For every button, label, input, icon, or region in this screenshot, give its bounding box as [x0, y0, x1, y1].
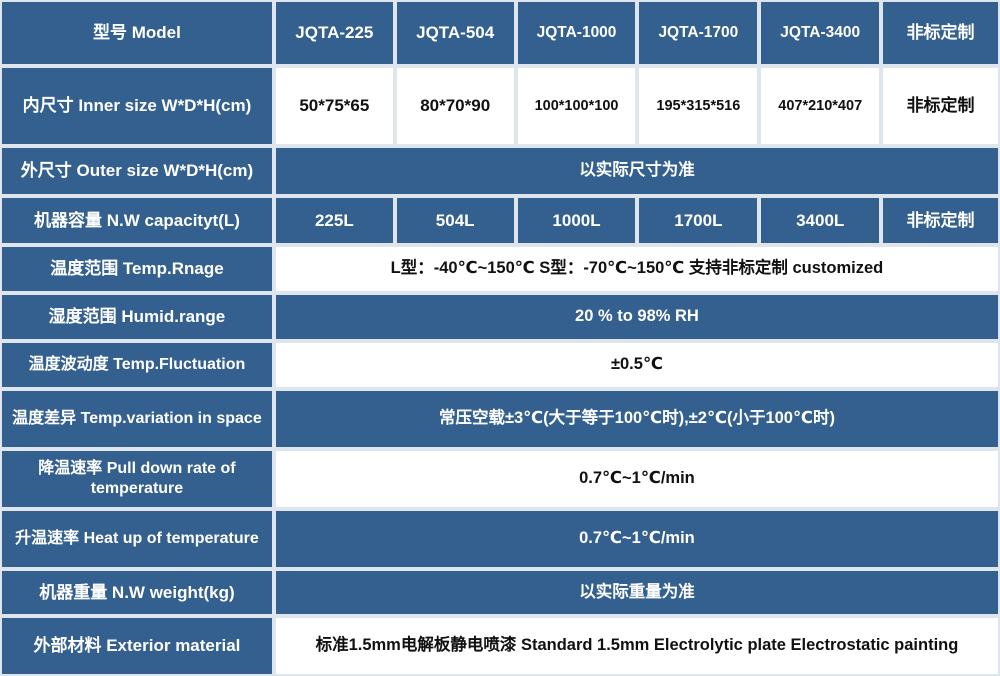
table-row-capacity: 机器容量 N.W capacityt(L) 225L 504L 1000L 17… — [0, 196, 1000, 245]
cell-capacity-225: 225L — [274, 196, 395, 245]
row-label-temp-range: 温度范围 Temp.Rnage — [0, 245, 274, 293]
cell-capacity-504: 504L — [395, 196, 516, 245]
row-label-heat-up-rate: 升温速率 Heat up of temperature — [0, 509, 274, 569]
header-cell-jqta-1000: JQTA-1000 — [516, 0, 638, 66]
cell-temp-variation-value: 常压空载±3℃(大于等于100℃时),±2℃(小于100℃时) — [274, 389, 1000, 449]
table-row-humidity-range: 湿度范围 Humid.range 20 % to 98% RH — [0, 293, 1000, 341]
cell-heat-up-rate-value: 0.7℃~1℃/min — [274, 509, 1000, 569]
row-label-capacity: 机器容量 N.W capacityt(L) — [0, 196, 274, 245]
cell-inner-size-225: 50*75*65 — [274, 66, 395, 146]
header-cell-model: 型号 Model — [0, 0, 274, 66]
table-row-inner-size: 内尺寸 Inner size W*D*H(cm) 50*75*65 80*70*… — [0, 66, 1000, 146]
row-label-temp-variation: 温度差异 Temp.variation in space — [0, 389, 274, 449]
cell-inner-size-1700: 195*315*516 — [637, 66, 759, 146]
cell-inner-size-custom: 非标定制 — [881, 66, 1000, 146]
cell-capacity-custom: 非标定制 — [881, 196, 1000, 245]
cell-humidity-range-value: 20 % to 98% RH — [274, 293, 1000, 341]
cell-capacity-1700: 1700L — [637, 196, 759, 245]
cell-weight-value: 以实际重量为准 — [274, 569, 1000, 616]
cell-pull-down-rate-value: 0.7℃~1℃/min — [274, 449, 1000, 509]
header-cell-jqta-1700: JQTA-1700 — [637, 0, 759, 66]
header-cell-jqta-225: JQTA-225 — [274, 0, 395, 66]
cell-temp-fluctuation-value: ±0.5℃ — [274, 341, 1000, 389]
row-label-pull-down-rate: 降温速率 Pull down rate of temperature — [0, 449, 274, 509]
row-label-temp-fluctuation: 温度波动度 Temp.Fluctuation — [0, 341, 274, 389]
cell-capacity-1000: 1000L — [516, 196, 638, 245]
cell-inner-size-3400: 407*210*407 — [759, 66, 881, 146]
table-header-row: 型号 Model JQTA-225 JQTA-504 JQTA-1000 JQT… — [0, 0, 1000, 66]
table-row-weight: 机器重量 N.W weight(kg) 以实际重量为准 — [0, 569, 1000, 616]
table-row-heat-up-rate: 升温速率 Heat up of temperature 0.7℃~1℃/min — [0, 509, 1000, 569]
header-cell-jqta-3400: JQTA-3400 — [759, 0, 881, 66]
cell-outer-size-value: 以实际尺寸为准 — [274, 146, 1000, 196]
row-label-exterior-material: 外部材料 Exterior material — [0, 616, 274, 676]
header-cell-jqta-504: JQTA-504 — [395, 0, 516, 66]
row-label-weight: 机器重量 N.W weight(kg) — [0, 569, 274, 616]
table-row-pull-down-rate: 降温速率 Pull down rate of temperature 0.7℃~… — [0, 449, 1000, 509]
table-row-temp-fluctuation: 温度波动度 Temp.Fluctuation ±0.5℃ — [0, 341, 1000, 389]
cell-temp-range-value: L型：-40℃~150℃ S型：-70℃~150℃ 支持非标定制 customi… — [274, 245, 1000, 293]
table-row-temp-range: 温度范围 Temp.Rnage L型：-40℃~150℃ S型：-70℃~150… — [0, 245, 1000, 293]
cell-inner-size-504: 80*70*90 — [395, 66, 516, 146]
specification-table: 型号 Model JQTA-225 JQTA-504 JQTA-1000 JQT… — [0, 0, 1000, 676]
table-row-exterior-material: 外部材料 Exterior material 标准1.5mm电解板静电喷漆 St… — [0, 616, 1000, 676]
row-label-inner-size: 内尺寸 Inner size W*D*H(cm) — [0, 66, 274, 146]
header-cell-custom: 非标定制 — [881, 0, 1000, 66]
cell-capacity-3400: 3400L — [759, 196, 881, 245]
row-label-humidity-range: 湿度范围 Humid.range — [0, 293, 274, 341]
table-row-temp-variation: 温度差异 Temp.variation in space 常压空载±3℃(大于等… — [0, 389, 1000, 449]
cell-exterior-material-value: 标准1.5mm电解板静电喷漆 Standard 1.5mm Electrolyt… — [274, 616, 1000, 676]
cell-inner-size-1000: 100*100*100 — [516, 66, 638, 146]
row-label-outer-size: 外尺寸 Outer size W*D*H(cm) — [0, 146, 274, 196]
table-row-outer-size: 外尺寸 Outer size W*D*H(cm) 以实际尺寸为准 — [0, 146, 1000, 196]
